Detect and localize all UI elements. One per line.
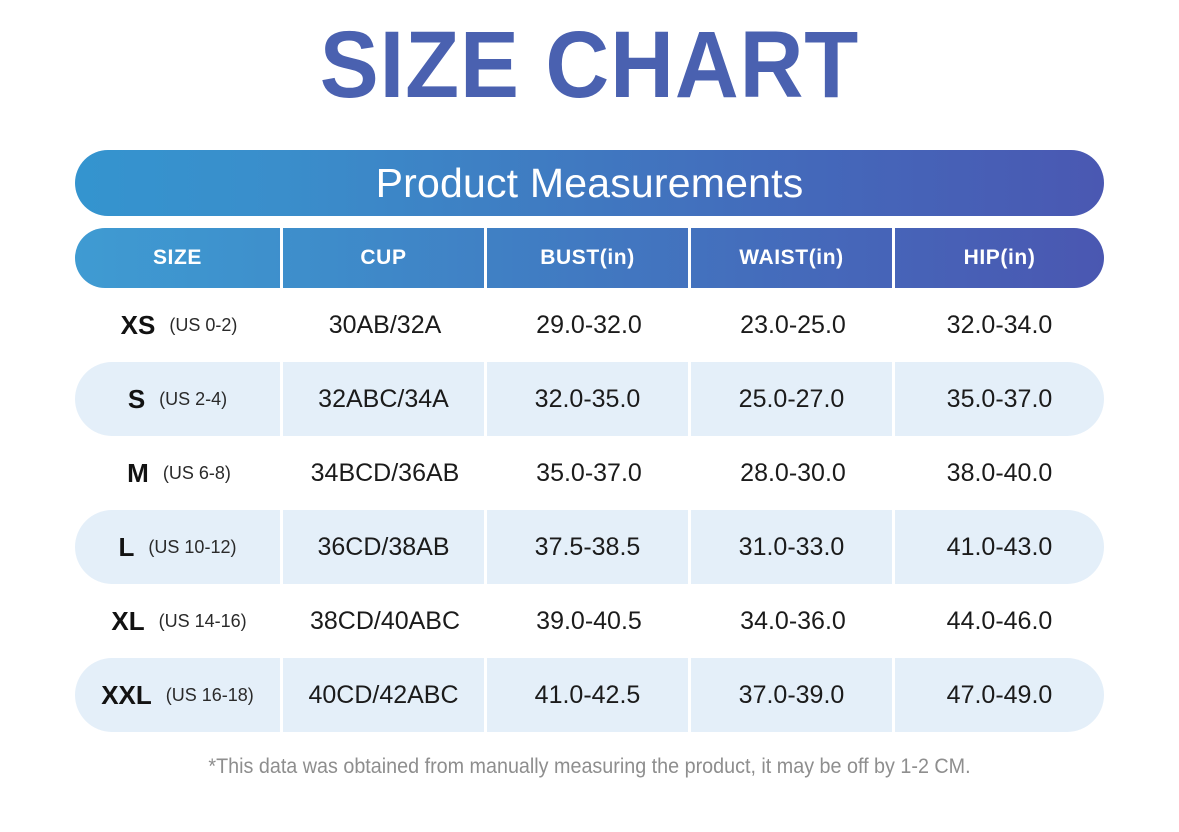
cell-waist: 37.0-39.0	[691, 658, 895, 732]
cell-cup: 30AB/32A	[283, 288, 487, 362]
table-body: XS(US 0-2)30AB/32A29.0-32.023.0-25.032.0…	[75, 288, 1104, 732]
size-chart-page: SIZE CHART Product Measurements SIZE CUP…	[0, 0, 1179, 832]
cell-size: XL(US 14-16)	[75, 584, 283, 658]
cell-hip: 32.0-34.0	[895, 288, 1104, 362]
footnote-text: *This data was obtained from manually me…	[35, 755, 1143, 779]
table-row: S(US 2-4)32ABC/34A32.0-35.025.0-27.035.0…	[75, 362, 1104, 436]
banner-label: Product Measurements	[376, 160, 804, 207]
us-size-range: (US 16-18)	[166, 685, 254, 706]
column-header-bust: BUST(in)	[487, 228, 691, 288]
cell-bust: 41.0-42.5	[487, 658, 691, 732]
size-label: S	[128, 384, 145, 415]
cell-bust: 35.0-37.0	[487, 436, 691, 510]
size-label: XS	[121, 310, 156, 341]
cell-bust: 32.0-35.0	[487, 362, 691, 436]
cell-bust: 39.0-40.5	[487, 584, 691, 658]
us-size-range: (US 14-16)	[159, 611, 247, 632]
us-size-range: (US 10-12)	[148, 537, 236, 558]
table-row: M(US 6-8)34BCD/36AB35.0-37.028.0-30.038.…	[75, 436, 1104, 510]
cell-waist: 25.0-27.0	[691, 362, 895, 436]
cell-cup: 32ABC/34A	[283, 362, 487, 436]
page-title: SIZE CHART	[41, 13, 1137, 118]
table-row: XS(US 0-2)30AB/32A29.0-32.023.0-25.032.0…	[75, 288, 1104, 362]
column-header-waist: WAIST(in)	[691, 228, 895, 288]
cell-waist: 31.0-33.0	[691, 510, 895, 584]
product-measurements-banner: Product Measurements	[75, 150, 1104, 216]
size-label: L	[119, 532, 135, 563]
cell-hip: 35.0-37.0	[895, 362, 1104, 436]
table-row: XL(US 14-16)38CD/40ABC39.0-40.534.0-36.0…	[75, 584, 1104, 658]
cell-waist: 28.0-30.0	[691, 436, 895, 510]
cell-hip: 47.0-49.0	[895, 658, 1104, 732]
cell-hip: 41.0-43.0	[895, 510, 1104, 584]
cell-cup: 34BCD/36AB	[283, 436, 487, 510]
cell-size: XS(US 0-2)	[75, 288, 283, 362]
column-header-hip: HIP(in)	[895, 228, 1104, 288]
size-label: XL	[111, 606, 144, 637]
cell-size: S(US 2-4)	[75, 362, 283, 436]
table-row: XXL(US 16-18)40CD/42ABC41.0-42.537.0-39.…	[75, 658, 1104, 732]
size-label: XXL	[101, 680, 152, 711]
cell-waist: 34.0-36.0	[691, 584, 895, 658]
size-label: M	[127, 458, 149, 489]
table-header-row: SIZE CUP BUST(in) WAIST(in) HIP(in)	[75, 228, 1104, 288]
cell-hip: 44.0-46.0	[895, 584, 1104, 658]
table-row: L(US 10-12)36CD/38AB37.5-38.531.0-33.041…	[75, 510, 1104, 584]
cell-bust: 29.0-32.0	[487, 288, 691, 362]
column-header-cup: CUP	[283, 228, 487, 288]
cell-cup: 36CD/38AB	[283, 510, 487, 584]
size-chart-table: Product Measurements SIZE CUP BUST(in) W…	[75, 150, 1104, 732]
cell-size: M(US 6-8)	[75, 436, 283, 510]
us-size-range: (US 2-4)	[159, 389, 227, 410]
cell-bust: 37.5-38.5	[487, 510, 691, 584]
cell-cup: 40CD/42ABC	[283, 658, 487, 732]
us-size-range: (US 0-2)	[169, 315, 237, 336]
cell-cup: 38CD/40ABC	[283, 584, 487, 658]
cell-waist: 23.0-25.0	[691, 288, 895, 362]
column-header-size: SIZE	[75, 228, 283, 288]
cell-size: XXL(US 16-18)	[75, 658, 283, 732]
cell-size: L(US 10-12)	[75, 510, 283, 584]
us-size-range: (US 6-8)	[163, 463, 231, 484]
cell-hip: 38.0-40.0	[895, 436, 1104, 510]
